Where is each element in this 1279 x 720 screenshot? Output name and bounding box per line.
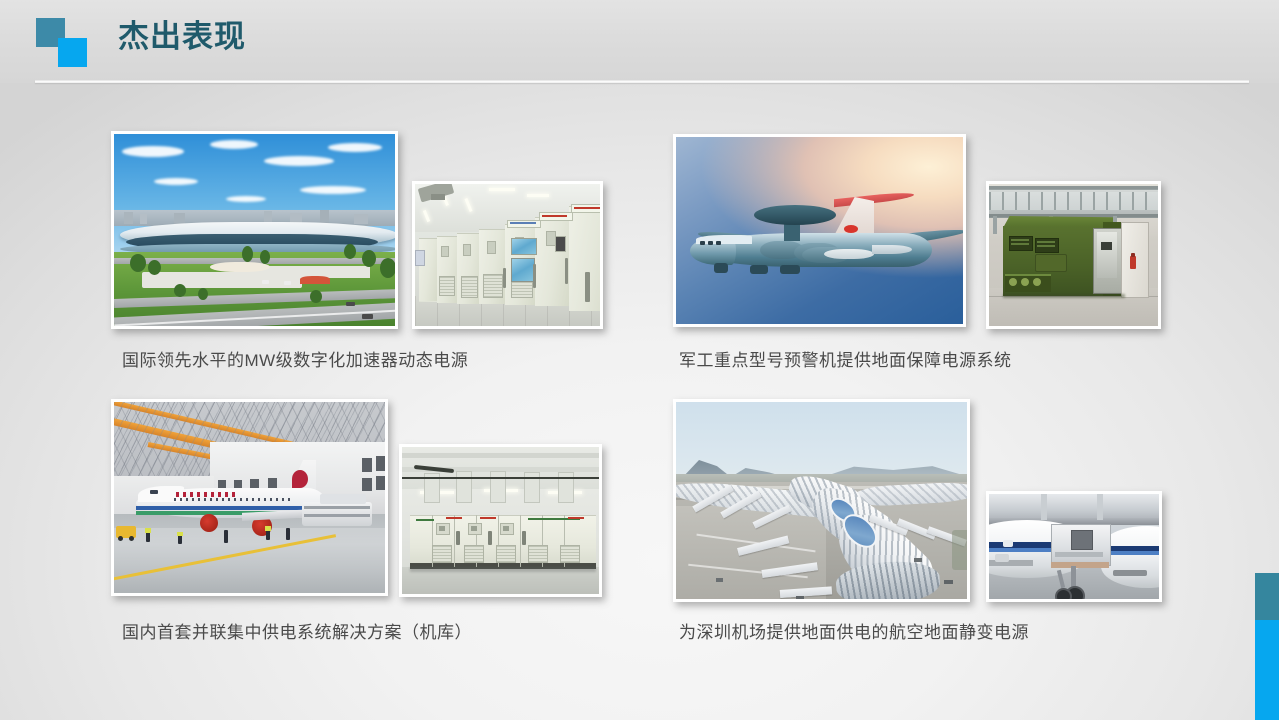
decorative-square-bright <box>58 38 87 67</box>
aircraft-ground-power-photo <box>986 491 1162 602</box>
accelerator-power-cabinets-photo <box>412 181 603 329</box>
title-divider <box>35 80 1249 83</box>
shenzhen-airport-terminal-photo <box>673 399 970 602</box>
slide-canvas: 杰出表现 <box>0 0 1279 720</box>
item-caption-1: 国际领先水平的MW级数字化加速器动态电源 <box>122 350 468 372</box>
page-title: 杰出表现 <box>118 17 246 57</box>
military-green-shelter-photo <box>986 181 1161 329</box>
parallel-power-cabinets-photo <box>399 444 602 597</box>
edge-accent-bright <box>1255 620 1279 720</box>
awacs-aircraft-photo <box>673 134 966 327</box>
aircraft-hangar-photo <box>111 399 388 596</box>
accelerator-facility-photo <box>111 131 398 329</box>
item-caption-2: 军工重点型号预警机提供地面保障电源系统 <box>679 350 1012 372</box>
edge-accent-dark <box>1255 573 1279 620</box>
item-caption-4: 为深圳机场提供地面供电的航空地面静变电源 <box>679 622 1029 644</box>
item-caption-3: 国内首套并联集中供电系统解决方案（机库） <box>122 622 472 644</box>
